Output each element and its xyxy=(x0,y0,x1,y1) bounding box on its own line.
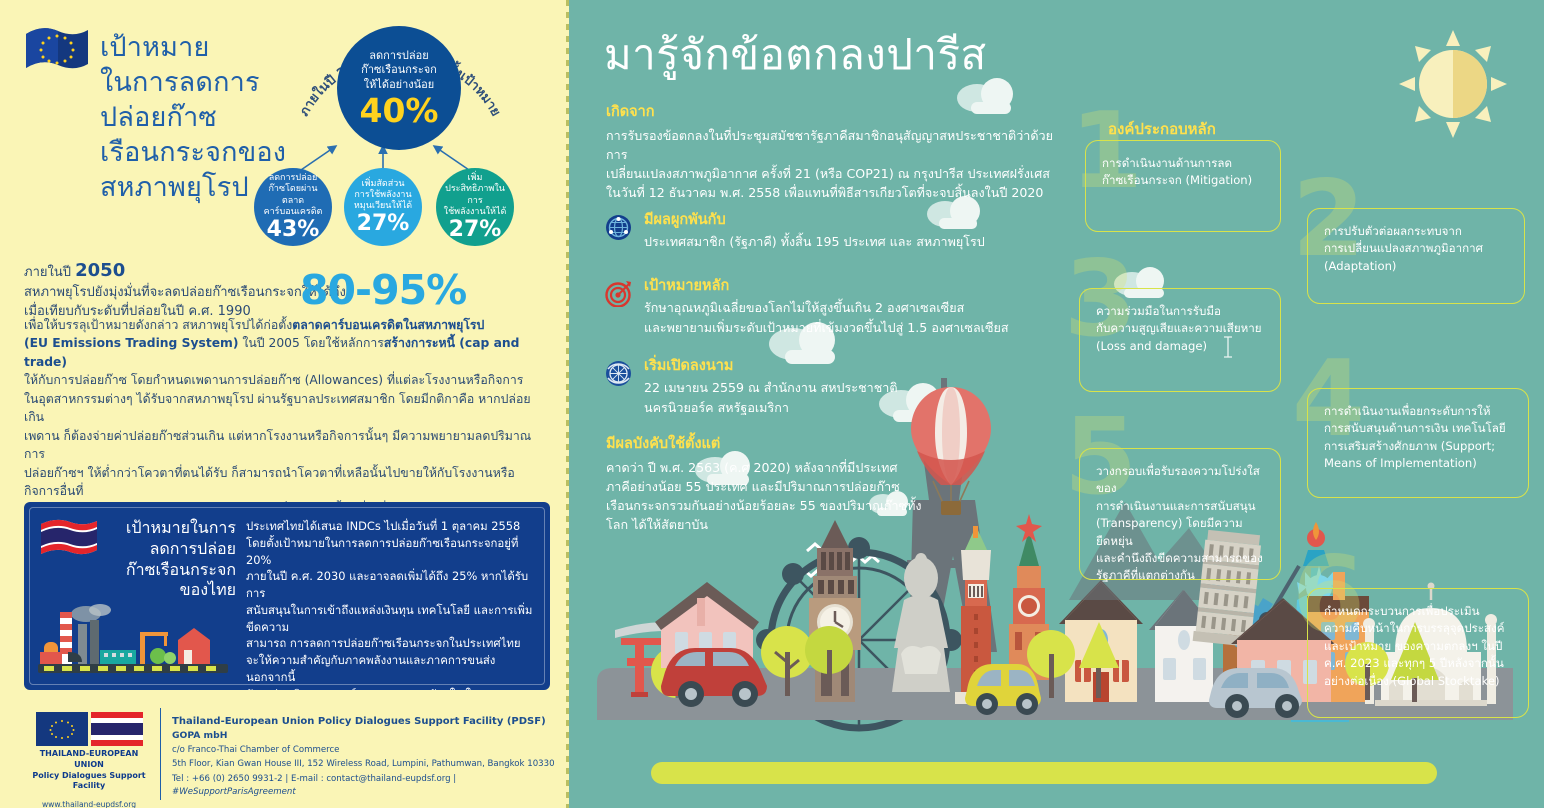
thailand-flag-icon xyxy=(38,516,100,560)
bubble-3-text: เพิ่มประสิทธิภาพในการใช้พลังงานให้ได้ xyxy=(436,173,514,218)
footer-org: Thailand-European Union Policy Dialogues… xyxy=(172,714,562,729)
list-item-main-goal-heading: เป้าหมายหลัก xyxy=(644,278,1009,295)
component-box-1: การดำเนินงานด้านการลดก๊าซเรือนกระจก (Mit… xyxy=(1085,140,1281,232)
footer-logo: THAILAND-EUROPEAN UNION Policy Dialogues… xyxy=(30,712,148,808)
footer-company: GOPA mbH xyxy=(172,729,562,744)
footer-tel: Tel : +66 (0) 2650 9931-2 xyxy=(172,774,283,784)
footer-address-1: c/o Franco-Thai Chamber of Commerce xyxy=(172,744,562,758)
component-box-4: การดำเนินงานเพื่อยกระดับการให้การสนับสนุ… xyxy=(1307,388,1529,498)
globe-network-icon xyxy=(605,214,632,241)
factory-illustration-icon xyxy=(38,594,228,680)
bubble-1-text: ลดการปล่อยก๊าซโดยผ่านตลาดคาร์บอนเครดิต xyxy=(254,173,332,218)
thailand-box-body: ประเทศไทยได้เสนอ INDCs ไปเมื่อวันที่ 1 ต… xyxy=(246,518,538,690)
footer-sep-1: | xyxy=(285,774,288,784)
footer-flags xyxy=(30,712,148,746)
footer-sep-2: | xyxy=(453,774,456,784)
component-box-6: กำหนดกระบวนการเพื่อประเมินความคืบหน้าในก… xyxy=(1307,588,1529,718)
bubble-main-text: ลดการปล่อยก๊าซเรือนกระจกให้ได้อย่างน้อย xyxy=(357,49,441,91)
bubble-1-value: 43% xyxy=(267,219,320,241)
list-item-main-goal: เป้าหมายหลัก รักษาอุณหภูมิเฉลี่ยของโลกไม… xyxy=(605,278,1035,337)
footer-contact-row: Tel : +66 (0) 2650 9931-2 | E-mail : con… xyxy=(172,773,562,801)
list-item-signing-heading: เริ่มเปิดลงนาม xyxy=(644,358,898,375)
footer-logo-line1: THAILAND-EUROPEAN UNION xyxy=(30,749,148,771)
bubble-2-value: 27% xyxy=(357,213,410,235)
section-origin-body: การรับรองข้อตกลงในที่ประชุมสมัชชารัฐภาคี… xyxy=(606,126,1066,203)
list-item-binding-body: ประเทศสมาชิก (รัฐภาคี) ทั้งสิ้น 195 ประเ… xyxy=(644,232,985,251)
bubble-renewable-energy: เพิ่มสัดส่วนการใช้พลังงานหมุนเวียนให้ได้… xyxy=(344,168,422,246)
section-entry-heading: มีผลบังคับใช้ตั้งแต่ xyxy=(606,432,936,455)
footer-text: Thailand-European Union Policy Dialogues… xyxy=(172,714,562,800)
footer-address-2: 5th Floor, Kian Gwan House III, 152 Wire… xyxy=(172,758,562,772)
text-cursor-icon xyxy=(1223,336,1233,358)
bubble-main-value: 40% xyxy=(360,94,439,127)
bubble-carbon-market: ลดการปล่อยก๊าซโดยผ่านตลาดคาร์บอนเครดิต 4… xyxy=(254,168,332,246)
section-entry-into-force: มีผลบังคับใช้ตั้งแต่ คาดว่า ปี พ.ศ. 2563… xyxy=(606,432,936,535)
list-item-binding-text: มีผลผูกพันกับ ประเทศสมาชิก (รัฐภาคี) ทั้… xyxy=(644,212,985,252)
footer-hashtag: #WeSupportParisAgreement xyxy=(172,787,296,797)
list-item-signing: เริ่มเปิดลงนาม 22 เมษายน 2559 ณ สำนักงาน… xyxy=(605,358,1035,417)
footer-url[interactable]: www.thailand-eupdsf.org xyxy=(30,800,148,808)
list-item-main-goal-text: เป้าหมายหลัก รักษาอุณหภูมิเฉลี่ยของโลกไม… xyxy=(644,278,1009,337)
list-item-binding-heading: มีผลผูกพันกับ xyxy=(644,212,985,229)
panel-divider xyxy=(566,0,569,808)
sun-icon xyxy=(1397,28,1509,140)
eu-flag-icon xyxy=(22,24,92,76)
component-box-2: การปรับตัวต่อผลกระทบจากการเปลี่ยนแปลงสภา… xyxy=(1307,208,1525,304)
bubble-energy-efficiency: เพิ่มประสิทธิภาพในการใช้พลังงานให้ได้ 27… xyxy=(436,168,514,246)
section-origin: เกิดจาก การรับรองข้อตกลงในที่ประชุมสมัชช… xyxy=(606,100,1066,203)
footer-email[interactable]: E-mail : contact@thailand-eupdsf.org xyxy=(291,774,451,784)
list-item-main-goal-body: รักษาอุณหภูมิเฉลี่ยของโลกไม่ให้สูงขึ้นเก… xyxy=(644,298,1009,336)
list-item-binding: มีผลผูกพันกับ ประเทศสมาชิก (รัฐภาคี) ทั้… xyxy=(605,212,1035,252)
component-box-5: วางกรอบเพื่อรับรองความโปร่งใสของการดำเนิ… xyxy=(1079,448,1281,580)
bubble-2-text: เพิ่มสัดส่วนการใช้พลังงานหมุนเวียนให้ได้ xyxy=(350,179,416,213)
united-nations-icon xyxy=(605,360,632,387)
list-item-signing-text: เริ่มเปิดลงนาม 22 เมษายน 2559 ณ สำนักงาน… xyxy=(644,358,898,417)
target-icon xyxy=(605,280,632,307)
year-2050-label: ภายในปี xyxy=(24,265,71,280)
year-2050-value: 2050 xyxy=(75,260,125,281)
component-box-3: ความร่วมมือในการรับมือกับความสูญเสียและค… xyxy=(1079,288,1281,392)
thailand-target-box: เป้าหมายในการลดการปล่อยก๊าซเรือนกระจกของ… xyxy=(24,502,550,690)
thailand-flag-small-icon xyxy=(91,712,143,746)
section-entry-body: คาดว่า ปี พ.ศ. 2563 (ค.ศ 2020) หลังจากที… xyxy=(606,458,936,535)
bubble-main-target: ลดการปล่อยก๊าซเรือนกระจกให้ได้อย่างน้อย … xyxy=(337,26,461,150)
eu-flag-small-icon xyxy=(36,712,88,746)
components-title: องค์ประกอบหลัก xyxy=(1108,117,1216,141)
thailand-box-heading: เป้าหมายในการลดการปล่อยก๊าซเรือนกระจกของ… xyxy=(112,518,236,601)
footer-logo-line2: Policy Dialogues Support Facility xyxy=(30,771,148,793)
bubble-3-value: 27% xyxy=(449,219,502,241)
percent-80-95: 80-95% xyxy=(300,266,466,314)
left-panel: เป้าหมายในการลดการปล่อยก๊าซเรือนกระจกของ… xyxy=(0,0,566,808)
section-origin-heading: เกิดจาก xyxy=(606,100,1066,123)
list-item-signing-body: 22 เมษายน 2559 ณ สำนักงาน สหประชาชาตินคร… xyxy=(644,378,898,416)
footer-divider xyxy=(160,708,161,800)
bottom-accent-bar xyxy=(651,762,1437,784)
